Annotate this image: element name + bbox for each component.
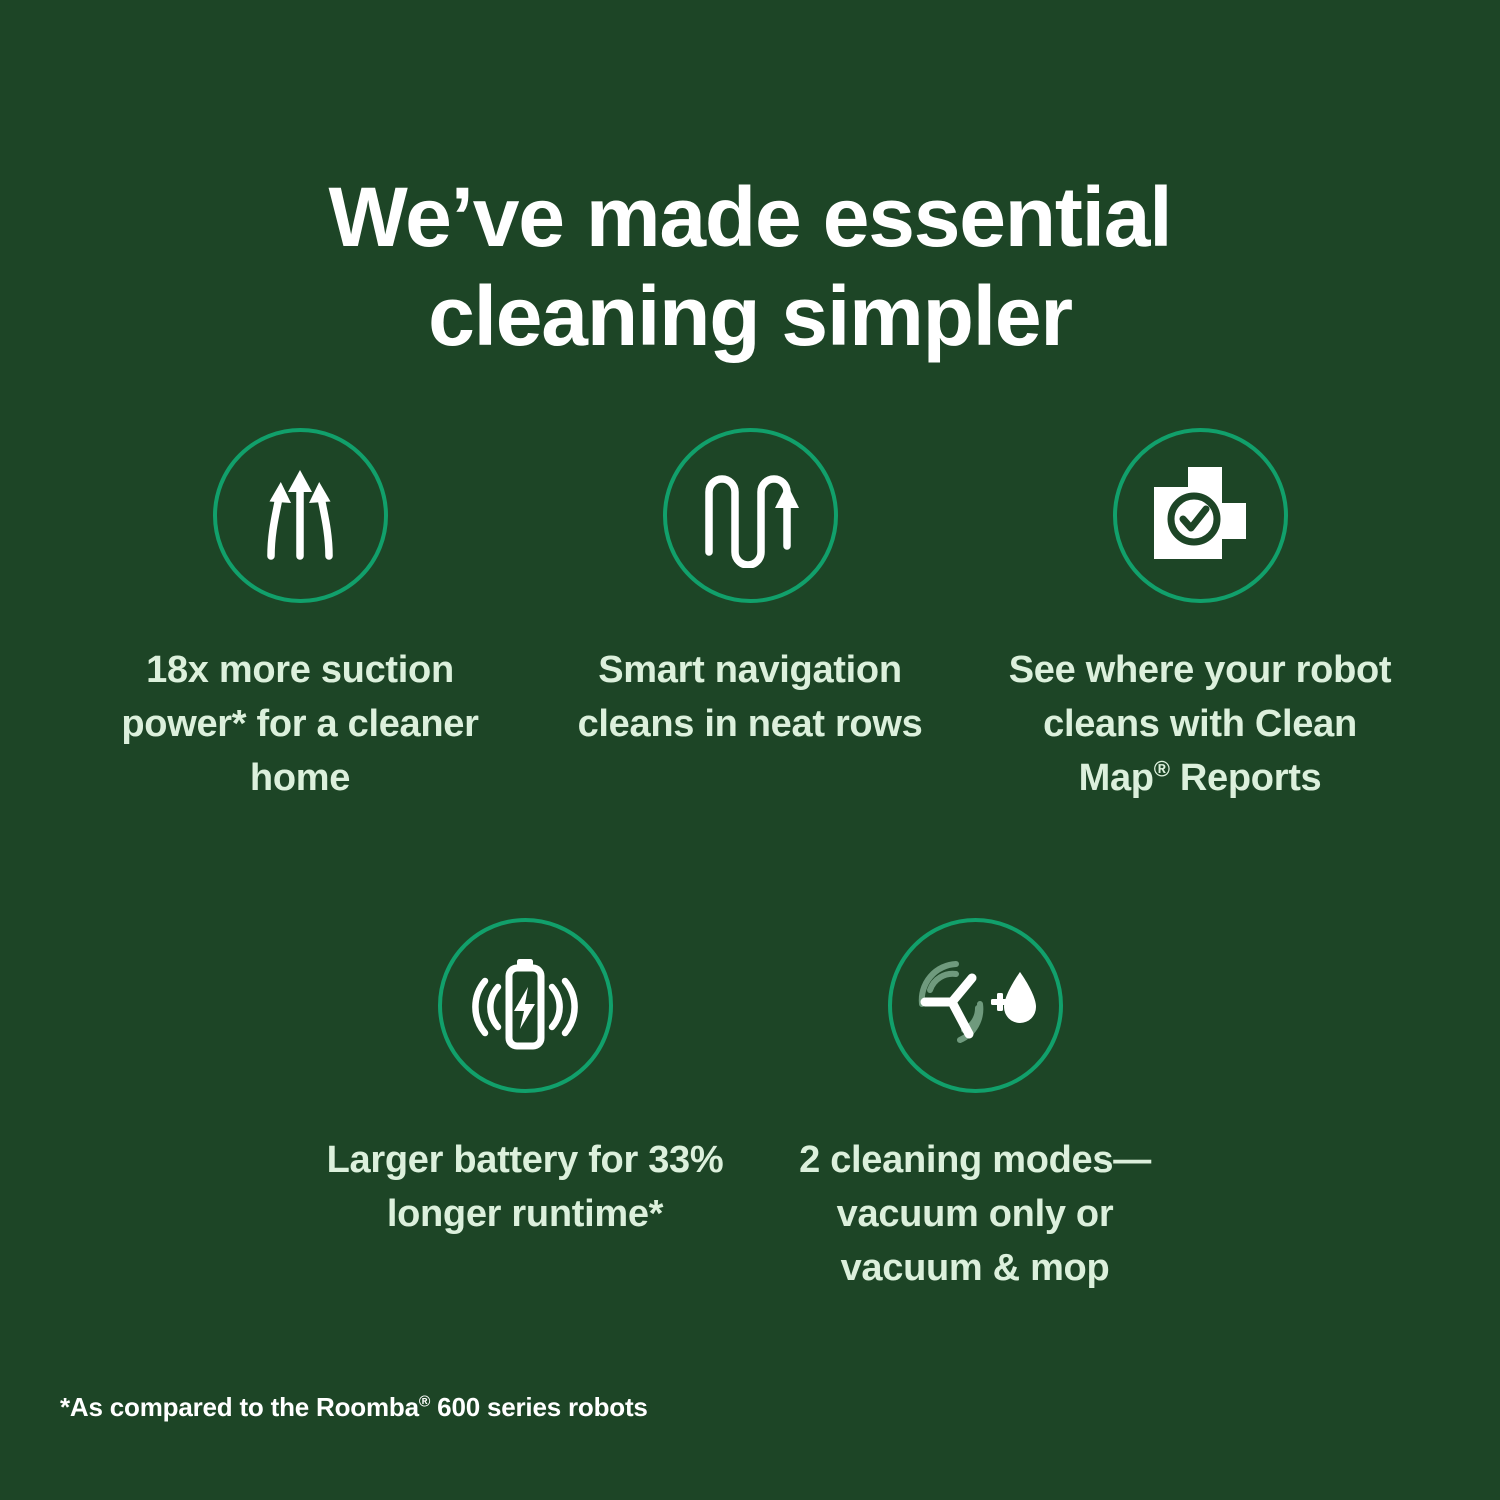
footnote-disclaimer: *As compared to the Roomba® 600 series r… — [60, 1392, 648, 1423]
footnote-text-main: *As compared to the Roomba — [60, 1392, 419, 1422]
feature-caption: See where your robot cleans with Clean M… — [1000, 644, 1400, 806]
feature-caption: Smart navigation cleans in neat rows — [550, 644, 950, 752]
registered-mark: ® — [419, 1393, 430, 1410]
feature-caption: 18x more suction power* for a cleaner ho… — [100, 644, 500, 806]
footnote-text-tail: 600 series robots — [430, 1392, 648, 1422]
feature-clean-map: See where your robot cleans with Clean M… — [975, 428, 1425, 806]
registered-mark: ® — [1154, 756, 1170, 781]
vacuum-plus-mop-icon — [912, 960, 1038, 1051]
feature-cleaning-modes: 2 cleaning modes—vacuum only or vacuum &… — [750, 918, 1200, 1296]
feature-battery: Larger battery for 33% longer runtime* — [300, 918, 750, 1296]
feature-icon-circle — [888, 918, 1063, 1093]
serpentine-navigation-icon — [695, 458, 805, 573]
infographic-page: We’ve made essential cleaning simpler — [0, 0, 1500, 1500]
feature-caption: 2 cleaning modes—vacuum only or vacuum &… — [775, 1134, 1175, 1296]
charging-battery-icon — [469, 949, 581, 1062]
feature-row-top: 18x more suction power* for a cleaner ho… — [0, 428, 1500, 806]
feature-suction: 18x more suction power* for a cleaner ho… — [75, 428, 525, 806]
feature-icon-circle — [1113, 428, 1288, 603]
clean-map-floorplan-icon — [1146, 459, 1254, 572]
feature-caption: Larger battery for 33% longer runtime* — [325, 1134, 725, 1242]
page-title: We’ve made essential cleaning simpler — [0, 168, 1500, 366]
feature-icon-circle — [663, 428, 838, 603]
feature-navigation: Smart navigation cleans in neat rows — [525, 428, 975, 806]
feature-row-bottom: Larger battery for 33% longer runtime* — [0, 918, 1500, 1296]
suction-arrows-icon — [245, 458, 355, 573]
feature-icon-circle — [213, 428, 388, 603]
feature-icon-circle — [438, 918, 613, 1093]
caption-text-tail: Reports — [1170, 757, 1322, 799]
